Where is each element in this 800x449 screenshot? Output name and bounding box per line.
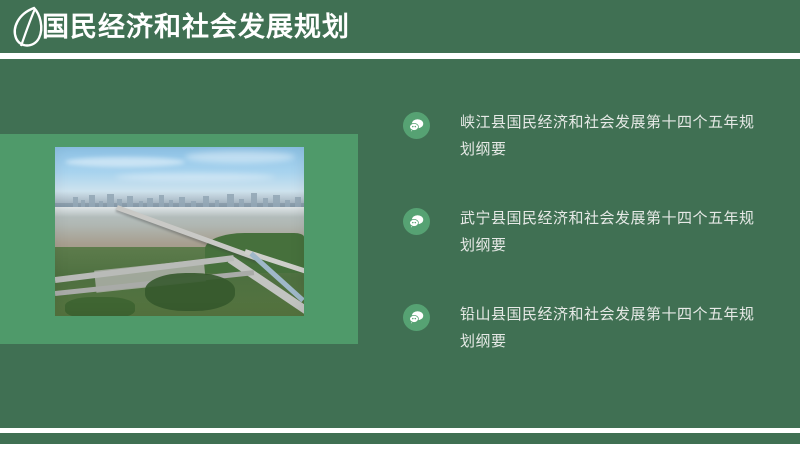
chat-bubbles-icon <box>403 208 430 235</box>
footer-edge <box>0 444 800 449</box>
list-item-label: 峡江县国民经济和社会发展第十四个五年规划纲要 <box>460 109 760 163</box>
document-list: 峡江县国民经济和社会发展第十四个五年规划纲要 武宁县国民经济和社会发展第十四个五… <box>398 100 778 388</box>
list-item[interactable]: 武宁县国民经济和社会发展第十四个五年规划纲要 <box>398 196 778 292</box>
footer-bar <box>0 433 800 444</box>
list-item-label: 铅山县国民经济和社会发展第十四个五年规划纲要 <box>460 301 760 355</box>
slide-root: 国民经济和社会发展规划 <box>0 0 800 449</box>
photo-vignette <box>55 147 304 316</box>
page-title: 国民经济和社会发展规划 <box>42 9 350 45</box>
chat-bubbles-icon <box>403 304 430 331</box>
list-item[interactable]: 铅山县国民经济和社会发展第十四个五年规划纲要 <box>398 292 778 388</box>
aerial-bridge-photo <box>55 147 304 316</box>
list-item-label: 武宁县国民经济和社会发展第十四个五年规划纲要 <box>460 205 760 259</box>
list-item[interactable]: 峡江县国民经济和社会发展第十四个五年规划纲要 <box>398 100 778 196</box>
slide-header: 国民经济和社会发展规划 <box>0 0 800 53</box>
chat-bubbles-icon <box>403 112 430 139</box>
